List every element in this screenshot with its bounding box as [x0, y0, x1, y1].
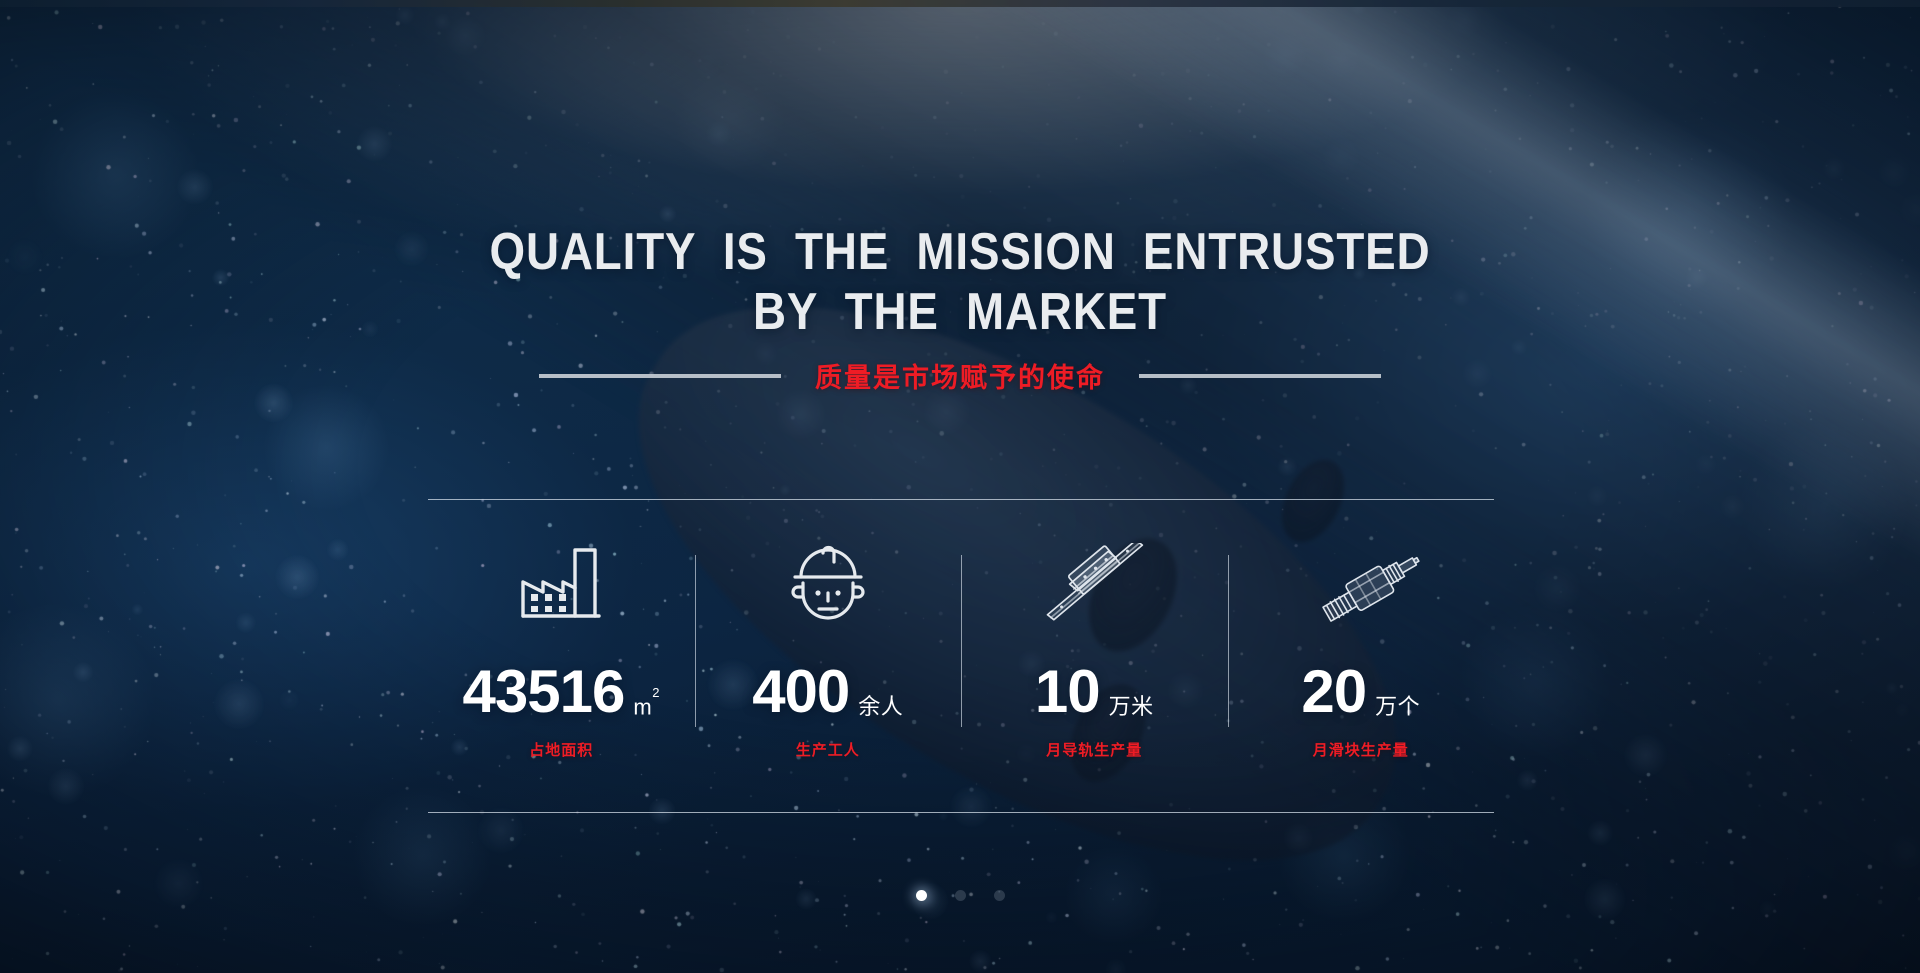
- stat-value: 400 余人: [752, 662, 903, 722]
- stat-item-block-output: 20 万个 月滑块生产量: [1228, 530, 1495, 760]
- subtitle-row: 质量是市场赋予的使命: [539, 356, 1381, 395]
- carousel-dot-1[interactable]: [916, 890, 927, 901]
- carousel-dot-2[interactable]: [955, 890, 966, 901]
- subtitle-chinese: 质量是市场赋予的使命: [815, 356, 1105, 395]
- stat-unit: m2: [633, 694, 660, 720]
- stat-label: 月导轨生产量: [1046, 739, 1142, 760]
- ball-screw-icon: [1298, 542, 1424, 624]
- stat-item-land-area: 43516 m2 占地面积: [428, 530, 695, 760]
- linear-guide-rail-icon: [1031, 542, 1157, 624]
- stat-item-rail-output: 10 万米 月导轨生产量: [961, 530, 1228, 760]
- stats-divider-bottom: [428, 812, 1494, 813]
- stat-label: 月滑块生产量: [1313, 739, 1409, 760]
- carousel-dots[interactable]: [0, 890, 1920, 901]
- stat-unit: 余人: [858, 689, 903, 721]
- stat-unit: 万个: [1375, 689, 1420, 721]
- stat-value: 43516 m2: [463, 662, 660, 722]
- stat-number: 43516: [463, 662, 625, 722]
- hero-banner: QUALITY IS THE MISSION ENTRUSTED BY THE …: [0, 0, 1920, 973]
- stat-item-workers: 400 余人 生产工人: [695, 530, 962, 760]
- stat-label: 占地面积: [529, 739, 593, 760]
- stat-unit: 万米: [1109, 689, 1154, 721]
- stat-value: 20 万个: [1301, 662, 1420, 722]
- stats-divider-top: [428, 499, 1494, 500]
- headline-line-2: BY THE MARKET: [476, 282, 1444, 342]
- headline: QUALITY IS THE MISSION ENTRUSTED BY THE …: [410, 222, 1510, 342]
- stat-value: 10 万米: [1035, 662, 1154, 722]
- stat-number: 20: [1301, 662, 1366, 722]
- worker-helmet-icon: [789, 542, 867, 624]
- stat-label: 生产工人: [796, 739, 860, 760]
- stat-number: 400: [752, 662, 849, 722]
- factory-icon: [519, 542, 603, 624]
- headline-line-1: QUALITY IS THE MISSION ENTRUSTED: [476, 222, 1444, 282]
- carousel-dot-3[interactable]: [994, 890, 1005, 901]
- subtitle-rule-left: [539, 374, 781, 378]
- stats-row: 43516 m2 占地面积: [428, 530, 1494, 760]
- subtitle-rule-right: [1139, 374, 1381, 378]
- stat-number: 10: [1035, 662, 1100, 722]
